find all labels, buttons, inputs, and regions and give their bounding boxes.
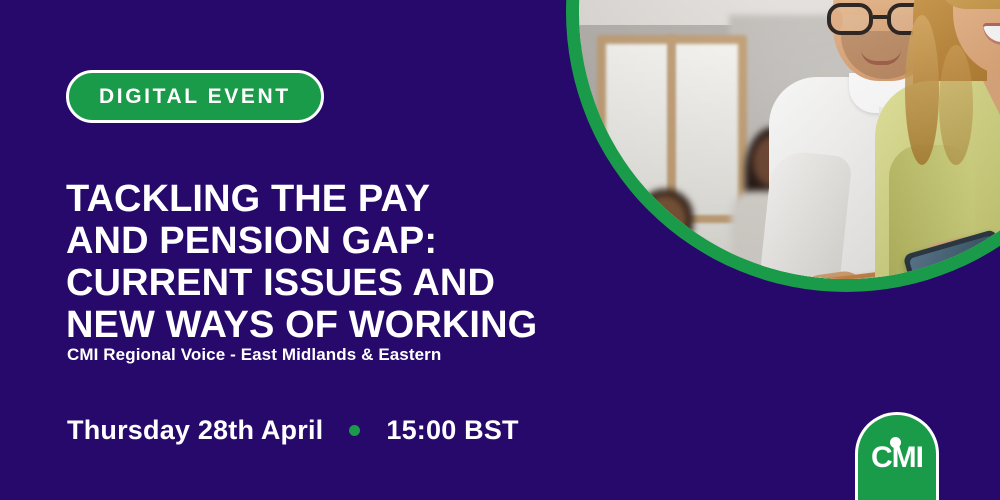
headline-line-1: TACKLING THE PAY xyxy=(66,178,626,220)
cmi-logo: CMI xyxy=(855,412,939,500)
separator-dot-icon xyxy=(349,425,360,436)
headline-line-2: AND PENSION GAP: xyxy=(66,220,626,262)
digital-event-badge: DIGITAL EVENT xyxy=(66,70,324,123)
event-schedule: Thursday 28th April 15:00 BST xyxy=(67,415,519,446)
event-photo xyxy=(579,0,1000,279)
logo-text: CMI xyxy=(858,441,936,475)
page-title: TACKLING THE PAY AND PENSION GAP: CURREN… xyxy=(66,178,626,346)
event-time: 15:00 BST xyxy=(386,415,518,446)
background-person-2 xyxy=(621,195,717,279)
badge-label: DIGITAL EVENT xyxy=(99,85,291,109)
photo-clip xyxy=(579,0,1000,279)
event-promo-poster: DIGITAL EVENT TACKLING THE PAY AND PENSI… xyxy=(0,0,1000,500)
photo-circle-frame xyxy=(566,0,1000,292)
headline-line-3: CURRENT ISSUES AND xyxy=(66,262,626,304)
event-date: Thursday 28th April xyxy=(67,415,323,446)
event-subtitle: CMI Regional Voice - East Midlands & Eas… xyxy=(67,345,441,365)
headline-line-4: NEW WAYS OF WORKING xyxy=(66,304,626,346)
